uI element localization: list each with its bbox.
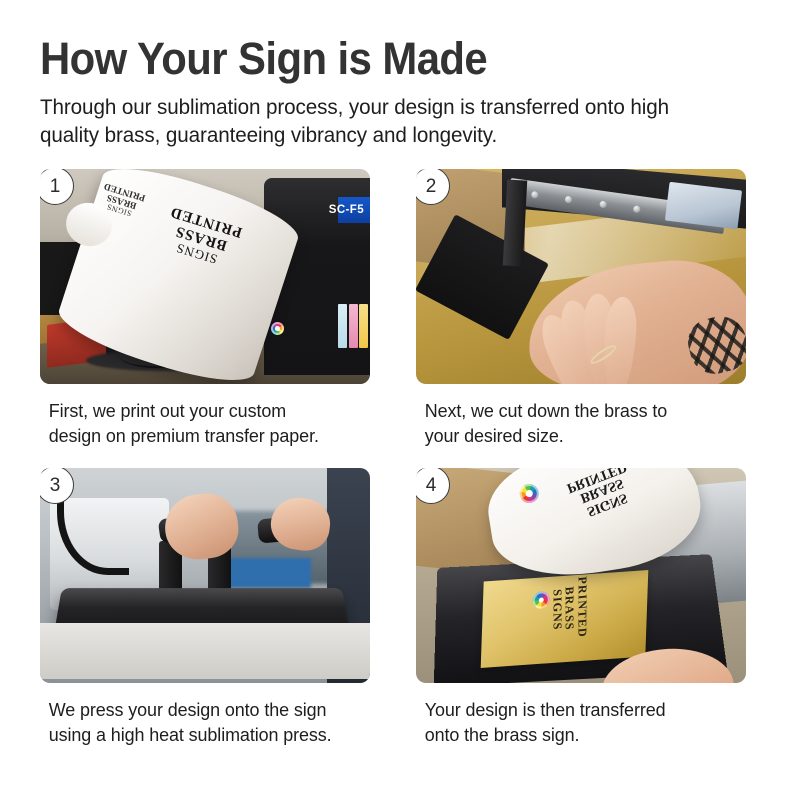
printer-ink-bay	[338, 304, 368, 348]
paper-pinwheel-logo-icon	[518, 482, 540, 504]
forearm-tattoo	[684, 311, 746, 379]
ink-cartridge-yellow	[359, 304, 368, 348]
printer-model-panel: SC-F5	[338, 197, 370, 223]
step-caption-1: First, we print out your custom design o…	[40, 398, 360, 448]
step-card-3: 3 We press your design onto the sign usi…	[40, 468, 370, 747]
step-photo-3: 3	[40, 468, 370, 683]
peeled-paper-text: SIGNS BRASS PRINTED	[564, 468, 639, 521]
steps-grid: SC-F5 SIGNS BRASS PRINTED SIGNS	[40, 169, 760, 747]
sign-pinwheel-logo-icon	[532, 590, 549, 609]
step-caption-4: Your design is then transferred onto the…	[416, 697, 736, 747]
finished-brass-sign: PRINTED BRASS SIGNS	[481, 570, 649, 668]
ink-cartridge-cyan	[338, 304, 347, 348]
step-photo-1: SC-F5 SIGNS BRASS PRINTED SIGNS	[40, 169, 370, 384]
operator-fingers	[531, 288, 644, 384]
printer-model-label: SC-F5	[329, 204, 364, 216]
press-table-cloth	[40, 623, 370, 679]
step-caption-2: Next, we cut down the brass to your desi…	[416, 398, 736, 448]
step-card-1: SC-F5 SIGNS BRASS PRINTED SIGNS	[40, 169, 370, 448]
page-subtitle: Through our sublimation process, your de…	[40, 94, 731, 149]
step-photo-4: PRINTED BRASS SIGNS SIGNS BRASS PRINTED	[416, 468, 746, 683]
step-photo-2: 2	[416, 169, 746, 384]
infographic-page: How Your Sign is Made Through our sublim…	[0, 0, 800, 800]
step-card-2: 2 Next, we cut down the brass to your de…	[416, 169, 746, 448]
ink-cartridge-magenta	[349, 304, 358, 348]
step-caption-3: We press your design onto the sign using…	[40, 697, 360, 747]
page-title: How Your Sign is Made	[40, 34, 710, 84]
step-card-4: PRINTED BRASS SIGNS SIGNS BRASS PRINTED	[416, 468, 746, 747]
